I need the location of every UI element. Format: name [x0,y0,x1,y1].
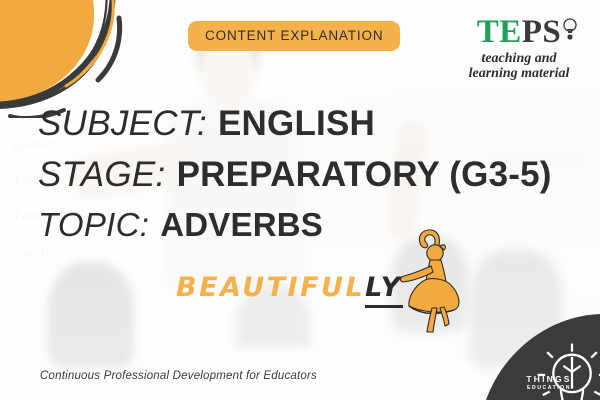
orange-brush-circle-decoration [0,0,146,118]
meta-row-subject: SUBJECT: ENGLISH [38,104,583,144]
content-explanation-badge: CONTENT EXPLANATION [188,21,400,51]
teps-tagline-line1: teaching and [456,51,582,66]
meta-label: STAGE: [38,155,166,195]
meta-value: ENGLISH [218,104,375,144]
things-education-logo: THINGS EDUCATION [512,338,586,391]
teps-wordmark-dark: PS [522,14,562,50]
meta-row-stage: STAGE: PREPARATORY (G3-5) [38,155,583,195]
lesson-meta-list: SUBJECT: ENGLISH STAGE: PREPARATORY (G3-… [38,104,583,244]
meta-value: ADVERBS [160,206,323,244]
teps-wordmark: TEPS [477,16,562,49]
example-word-stem: BEAUTIFUL [176,272,365,303]
teps-logo: TEPS teaching and learning material [456,16,582,81]
meta-value: PREPARATORY (G3-5) [177,155,552,195]
student-figure [48,262,134,368]
whiteboard-note: - carefully [8,243,67,261]
meta-label: SUBJECT: [38,104,207,144]
ballerina-icon [392,222,476,334]
lightbulb-icon [563,14,577,36]
meta-label: TOPIC: [38,206,149,244]
slide-canvas: - quickly - Loudly - Loudly - carefully … [0,0,600,400]
things-education-logo-corner: THINGS EDUCATION [480,314,600,400]
teps-tagline: teaching and learning material [456,51,582,81]
lightbulb-icon [532,338,566,372]
teps-tagline-line2: learning material [456,66,582,81]
footer-tagline: Continuous Professional Development for … [40,370,317,382]
meta-row-topic: TOPIC: ADVERBS [38,206,583,244]
teps-wordmark-green: TE [477,14,522,50]
example-adverb-word: BEAUTIFULLY [176,272,403,303]
